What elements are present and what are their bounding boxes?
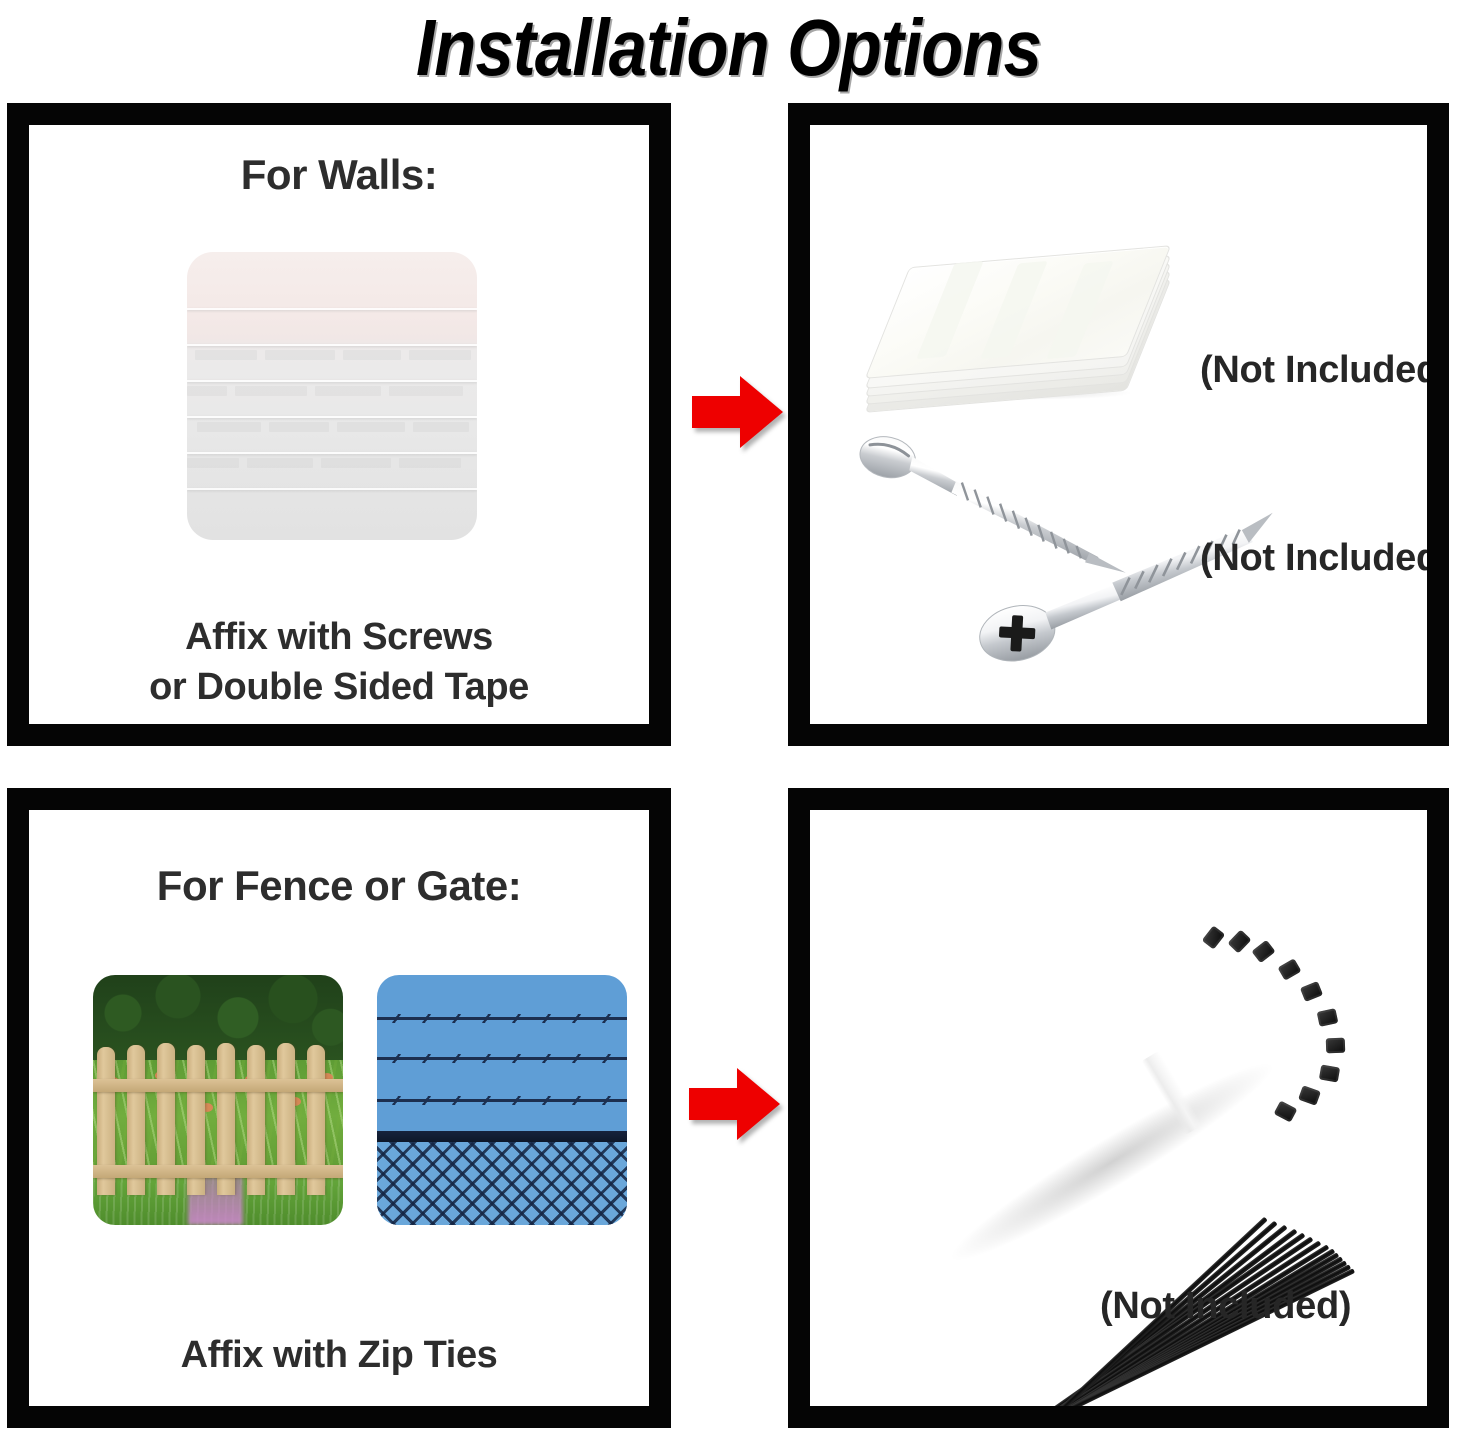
- zip-ties-not-included-label: (Not Included): [1100, 1285, 1351, 1328]
- page-title: Installation Options: [102, 2, 1355, 94]
- panel-for-walls-content: For Walls:: [29, 125, 649, 724]
- panel-for-walls: For Walls:: [7, 103, 671, 746]
- installation-options-infographic: Installation Options For Walls:: [0, 0, 1457, 1434]
- for-walls-caption: Affix with Screws or Double Sided Tape: [29, 612, 649, 712]
- arrow-right-icon-fence: [689, 1066, 781, 1142]
- for-walls-heading: For Walls:: [29, 151, 649, 199]
- panel-zip-ties: (Not Included): [788, 788, 1449, 1428]
- for-fence-or-gate-heading: For Fence or Gate:: [29, 862, 649, 910]
- white-brick-wall-image: [187, 252, 477, 540]
- double-sided-tape-stack-image: [882, 246, 1166, 411]
- chain-link-barbed-wire-fence-image: [377, 975, 627, 1225]
- wooden-picket-fence-image: [93, 975, 343, 1225]
- for-walls-caption-line-2: or Double Sided Tape: [29, 662, 649, 712]
- tape-not-included-label: (Not Included): [1200, 349, 1427, 392]
- black-zip-tie-bundle-image: [862, 928, 1382, 1318]
- panel-for-fence-or-gate-content: For Fence or Gate:: [29, 810, 649, 1406]
- panel-wall-hardware: (Not Included): [788, 103, 1449, 746]
- for-walls-caption-line-1: Affix with Screws: [29, 612, 649, 662]
- for-fence-caption: Affix with Zip Ties: [29, 1330, 649, 1380]
- arrow-right-icon-walls: [692, 374, 784, 450]
- panel-wall-hardware-content: (Not Included): [810, 125, 1427, 724]
- screws-not-included-label: (Not Included): [1200, 537, 1427, 580]
- panel-zip-ties-content: (Not Included): [810, 810, 1427, 1406]
- panel-for-fence-or-gate: For Fence or Gate:: [7, 788, 671, 1428]
